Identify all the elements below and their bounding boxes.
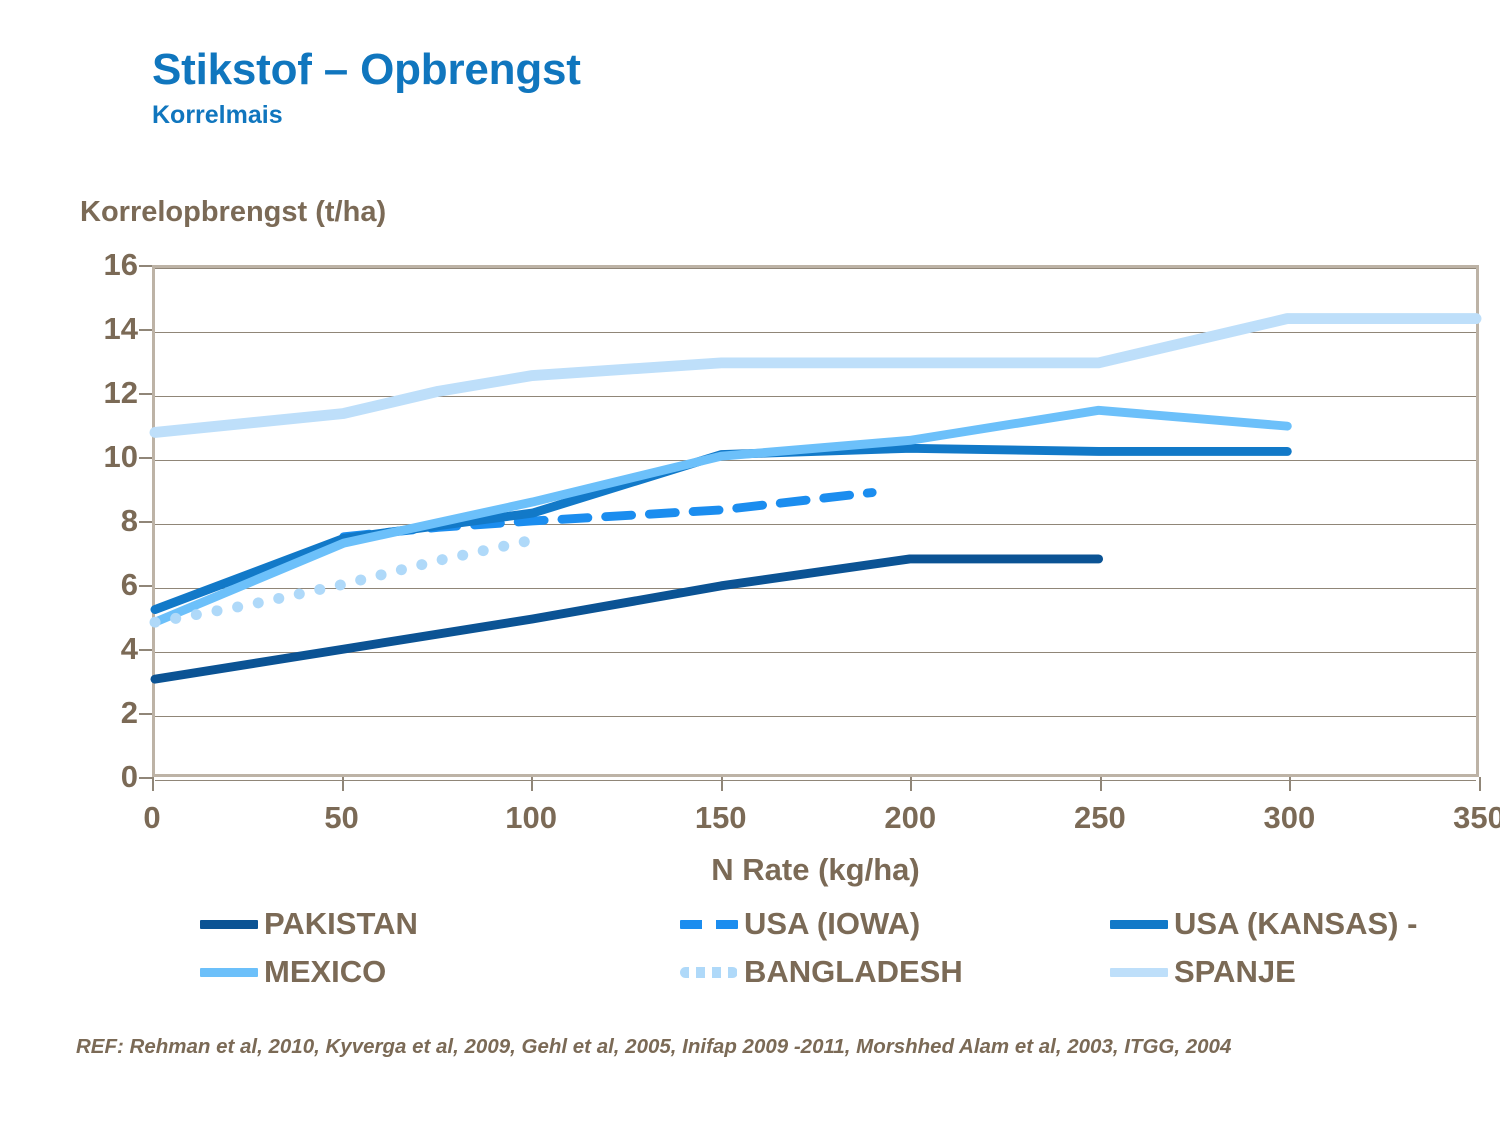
legend-label: PAKISTAN: [264, 906, 418, 942]
legend-item-usa-kansas[interactable]: USA (KANSAS) -: [1110, 906, 1460, 942]
y-tick-mark: [139, 649, 152, 651]
x-tick-label: 100: [461, 800, 601, 836]
y-tick-mark: [139, 457, 152, 459]
legend-label: USA (IOWA): [744, 906, 920, 942]
legend-item-bangladesh[interactable]: BANGLADESH: [680, 954, 1110, 990]
legend-item-usa-iowa[interactable]: USA (IOWA): [680, 906, 1110, 942]
series-line-pakistan: [155, 559, 1099, 679]
x-tick-label: 250: [1030, 800, 1170, 836]
x-tick-mark: [531, 777, 533, 791]
y-tick-label: 4: [18, 631, 138, 667]
legend-label: USA (KANSAS) -: [1174, 906, 1417, 942]
series-line-bangladesh: [155, 540, 532, 622]
y-axis-title: Korrelopbrengst (t/ha): [80, 196, 386, 229]
y-tick-mark: [139, 713, 152, 715]
legend-swatch-icon: [1110, 968, 1168, 977]
legend-label: BANGLADESH: [744, 954, 963, 990]
y-tick-mark: [139, 393, 152, 395]
legend-item-pakistan[interactable]: PAKISTAN: [200, 906, 680, 942]
y-tick-label: 6: [18, 567, 138, 603]
chart-legend: PAKISTANUSA (IOWA)USA (KANSAS) -MEXICOBA…: [200, 900, 1460, 996]
y-tick-label: 10: [18, 439, 138, 475]
x-tick-label: 200: [840, 800, 980, 836]
gridline: [155, 780, 1476, 781]
y-tick-label: 14: [18, 311, 138, 347]
series-layer: [155, 268, 1476, 774]
x-tick-label: 350: [1409, 800, 1500, 836]
y-tick-label: 0: [18, 759, 138, 795]
y-tick-label: 16: [18, 247, 138, 283]
page-title: Stikstof – Opbrengst: [152, 48, 581, 93]
x-tick-mark: [1100, 777, 1102, 791]
legend-swatch-icon: [200, 920, 258, 929]
legend-item-mexico[interactable]: MEXICO: [200, 954, 680, 990]
x-tick-mark: [910, 777, 912, 791]
x-tick-label: 0: [82, 800, 222, 836]
x-tick-mark: [1479, 777, 1481, 791]
x-tick-label: 300: [1219, 800, 1359, 836]
legend-label: MEXICO: [264, 954, 386, 990]
x-tick-mark: [1289, 777, 1291, 791]
x-tick-mark: [721, 777, 723, 791]
y-tick-label: 2: [18, 695, 138, 731]
legend-item-spanje[interactable]: SPANJE: [1110, 954, 1460, 990]
title-block: Stikstof – Opbrengst Korrelmais: [152, 48, 581, 130]
page-subtitle: Korrelmais: [152, 101, 581, 130]
legend-swatch-icon: [680, 967, 738, 978]
plot-area: [152, 265, 1479, 777]
reference-note: REF: Rehman et al, 2010, Kyverga et al, …: [76, 1035, 1231, 1059]
x-axis-title: N Rate (kg/ha): [152, 852, 1479, 888]
x-tick-label: 150: [651, 800, 791, 836]
x-tick-mark: [152, 777, 154, 791]
series-line-spanje: [155, 319, 1476, 433]
y-tick-mark: [139, 585, 152, 587]
legend-swatch-icon: [200, 968, 258, 977]
legend-swatch-icon: [680, 920, 738, 929]
legend-swatch-icon: [1110, 920, 1168, 929]
y-tick-mark: [139, 521, 152, 523]
y-tick-mark: [139, 329, 152, 331]
chart-container: Korrelopbrengst (t/ha) 0246810121416 050…: [0, 180, 1500, 940]
legend-label: SPANJE: [1174, 954, 1296, 990]
x-tick-label: 50: [272, 800, 412, 836]
y-tick-mark: [139, 777, 152, 779]
y-tick-label: 12: [18, 375, 138, 411]
y-tick-mark: [139, 265, 152, 267]
y-tick-label: 8: [18, 503, 138, 539]
plot-inner: [155, 268, 1476, 774]
x-tick-mark: [342, 777, 344, 791]
